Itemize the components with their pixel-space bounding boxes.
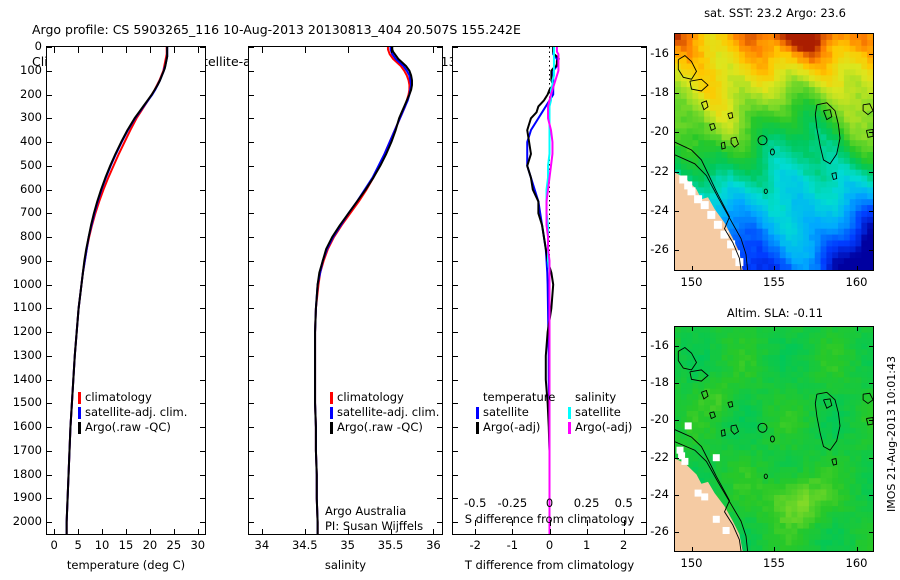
map-grid-cell: [762, 433, 768, 439]
map-grid-cell: [704, 445, 710, 451]
map-grid-cell: [774, 355, 780, 361]
map-grid-cell: [774, 344, 780, 350]
map-grid-cell: [844, 229, 850, 236]
x-tick-mark: [433, 47, 434, 53]
map-lat-tick-label: -22: [634, 164, 669, 178]
map-grid-cell: [727, 327, 733, 333]
map-grid-cell: [791, 187, 797, 194]
map-grid-cell: [803, 182, 809, 189]
map-grid-cell: [844, 199, 850, 206]
map-grid-cell: [803, 327, 809, 333]
map-grid-cell: [681, 170, 687, 177]
map-grid-cell: [751, 338, 757, 344]
depth-tick-mark: [452, 403, 458, 404]
map-grid-cell: [745, 193, 751, 200]
map-grid-cell: [809, 264, 815, 270]
map-grid-cell: [716, 394, 722, 400]
legend-label: climatology: [85, 390, 152, 405]
map-grid-cell: [867, 264, 873, 270]
map-grid-cell: [809, 428, 815, 434]
map-grid-cell: [809, 489, 815, 495]
map-grid-cell: [774, 146, 780, 153]
map-grid-cell: [716, 338, 722, 344]
map-grid-cell: [716, 146, 722, 153]
map-grid-cell: [844, 34, 850, 41]
map-grid-cell: [850, 428, 856, 434]
map-grid-cell: [856, 338, 862, 344]
map-grid-cell: [856, 170, 862, 177]
map-grid-cell: [780, 540, 786, 546]
difference-profile-panel[interactable]: [452, 46, 647, 535]
map-grid-cell: [826, 164, 832, 171]
map-grid-cell: [844, 40, 850, 47]
map-grid-cell: [716, 105, 722, 112]
map-grid-cell: [838, 111, 844, 118]
map-grid-cell: [844, 372, 850, 378]
map-grid-cell: [815, 87, 821, 94]
map-grid-cell: [791, 46, 797, 53]
map-grid-cell: [762, 523, 768, 529]
map-grid-cell: [739, 81, 745, 88]
map-grid-cell: [786, 439, 792, 445]
map-grid-cell: [815, 123, 821, 130]
depth-tick-mark: [641, 308, 647, 309]
map-grid-cell: [797, 433, 803, 439]
map-grid-cell: [797, 523, 803, 529]
map-grid-cell: [844, 258, 850, 265]
map-grid-cell: [768, 69, 774, 76]
map-grid-cell: [692, 333, 698, 339]
map-grid-cell: [786, 187, 792, 194]
map-grid-cell: [797, 241, 803, 248]
map-grid-cell: [687, 111, 693, 118]
map-grid-cell: [733, 152, 739, 159]
map-lat-tick-mark: [869, 383, 874, 384]
map-grid-cell: [867, 484, 873, 490]
map-grid-cell: [867, 355, 873, 361]
map-grid-cell: [751, 484, 757, 490]
map-grid-cell: [768, 93, 774, 100]
map-grid-cell: [791, 235, 797, 242]
map-grid-cell: [762, 417, 768, 423]
map-grid-cell: [780, 99, 786, 106]
map-grid-cell: [692, 40, 698, 47]
map-grid-cell: [856, 158, 862, 165]
map-grid-cell: [861, 75, 867, 82]
depth-tick-mark: [437, 380, 443, 381]
map-grid-cell: [698, 473, 704, 479]
depth-tick-mark: [46, 451, 52, 452]
map-grid-cell: [692, 140, 698, 147]
map-grid-cell: [675, 99, 681, 106]
map-grid-cell: [856, 223, 862, 230]
map-grid-cell: [844, 433, 850, 439]
map-grid-cell: [850, 361, 856, 367]
map-grid-cell: [780, 235, 786, 242]
depth-tick-mark: [452, 47, 458, 48]
map-grid-cell: [780, 361, 786, 367]
map-grid-cell: [803, 338, 809, 344]
map-grid-cell: [733, 46, 739, 53]
map-grid-cell: [780, 105, 786, 112]
map-grid-cell: [809, 506, 815, 512]
map-grid-cell: [698, 344, 704, 350]
map-grid-cell: [791, 377, 797, 383]
map-grid-cell: [727, 46, 733, 53]
map-grid-cell: [809, 235, 815, 242]
map-grid-cell: [809, 512, 815, 518]
difference-legend-salinity: salinitysatelliteArgo(-adj): [568, 390, 632, 435]
map-grid-cell: [751, 422, 757, 428]
map-grid-cell: [774, 229, 780, 236]
map-grid-cell: [856, 383, 862, 389]
map-no-data-cell: [701, 493, 708, 500]
map-grid-cell: [791, 199, 797, 206]
map-grid-cell: [821, 489, 827, 495]
profile-line: [315, 47, 412, 534]
map-grid-cell: [821, 223, 827, 230]
map-grid-cell: [757, 58, 763, 65]
map-grid-cell: [803, 152, 809, 159]
map-grid-cell: [733, 217, 739, 224]
map-grid-cell: [774, 540, 780, 546]
map-grid-cell: [838, 164, 844, 171]
map-grid-cell: [745, 400, 751, 406]
map-lat-tick-mark: [674, 211, 679, 212]
map-grid-cell: [850, 264, 856, 270]
map-grid-cell: [762, 199, 768, 206]
map-grid-cell: [757, 545, 763, 551]
map-grid-cell: [739, 372, 745, 378]
map-grid-cell: [774, 69, 780, 76]
map-grid-cell: [786, 170, 792, 177]
map-grid-cell: [861, 123, 867, 130]
map-grid-cell: [838, 241, 844, 248]
temperature-profile-panel[interactable]: [46, 46, 206, 535]
map-grid-cell: [850, 377, 856, 383]
map-lat-tick-mark: [869, 211, 874, 212]
depth-tick-mark: [437, 71, 443, 72]
map-grid-cell: [850, 383, 856, 389]
map-grid-cell: [762, 445, 768, 451]
map-grid-cell: [733, 355, 739, 361]
map-grid-cell: [733, 450, 739, 456]
depth-tick-mark: [46, 403, 52, 404]
map-grid-cell: [774, 377, 780, 383]
map-grid-cell: [832, 46, 838, 53]
map-grid-cell: [850, 355, 856, 361]
map-grid-cell: [739, 327, 745, 333]
map-grid-cell: [821, 187, 827, 194]
map-grid-cell: [809, 258, 815, 265]
map-grid-cell: [821, 484, 827, 490]
map-grid-cell: [780, 484, 786, 490]
map-grid-cell: [791, 152, 797, 159]
map-grid-cell: [704, 473, 710, 479]
map-grid-cell: [867, 193, 873, 200]
map-lat-tick-mark: [674, 346, 679, 347]
map-grid-cell: [791, 456, 797, 462]
map-grid-cell: [727, 349, 733, 355]
map-grid-cell: [733, 211, 739, 218]
depth-tick-label: 100: [0, 63, 42, 77]
map-grid-cell: [809, 81, 815, 88]
map-grid-cell: [832, 327, 838, 333]
map-grid-cell: [867, 467, 873, 473]
map-grid-cell: [757, 361, 763, 367]
map-grid-cell: [821, 75, 827, 82]
map-grid-cell: [809, 229, 815, 236]
depth-tick-label: 1400: [0, 372, 42, 386]
map-grid-cell: [757, 355, 763, 361]
map-grid-cell: [762, 117, 768, 124]
map-grid-cell: [821, 252, 827, 258]
map-grid-cell: [704, 64, 710, 71]
map-grid-cell: [739, 40, 745, 47]
map-grid-cell: [786, 489, 792, 495]
depth-tick-mark: [437, 47, 443, 48]
map-grid-cell: [681, 377, 687, 383]
map-grid-cell: [856, 134, 862, 141]
map-grid-cell: [786, 217, 792, 224]
map-lat-tick-mark: [674, 250, 679, 251]
map-grid-cell: [826, 506, 832, 512]
map-grid-cell: [850, 176, 856, 183]
map-grid-cell: [844, 484, 850, 490]
depth-tick-label: 800: [0, 229, 42, 243]
map-lon-tick-mark: [857, 266, 858, 271]
map-grid-cell: [809, 40, 815, 47]
map-grid-cell: [850, 327, 856, 333]
map-grid-cell: [751, 372, 757, 378]
map-grid-cell: [786, 383, 792, 389]
map-grid-cell: [797, 246, 803, 253]
map-grid-cell: [821, 545, 827, 551]
map-grid-cell: [844, 545, 850, 551]
depth-tick-mark: [437, 522, 443, 523]
map-grid-cell: [757, 81, 763, 88]
map-grid-cell: [838, 211, 844, 218]
legend-item: satellite: [476, 405, 555, 420]
map-grid-cell: [786, 417, 792, 423]
map-grid-cell: [739, 75, 745, 82]
map-grid-cell: [757, 523, 763, 529]
map-grid-cell: [821, 99, 827, 106]
map-grid-cell: [861, 40, 867, 47]
map-grid-cell: [786, 140, 792, 147]
depth-tick-mark: [452, 475, 458, 476]
map-grid-cell: [844, 506, 850, 512]
map-grid-cell: [698, 111, 704, 118]
map-grid-cell: [727, 81, 733, 88]
map-grid-cell: [838, 512, 844, 518]
map-grid-cell: [838, 64, 844, 71]
map-grid-cell: [745, 422, 751, 428]
sst-map[interactable]: [674, 33, 874, 271]
map-grid-cell: [774, 187, 780, 194]
map-grid-cell: [745, 478, 751, 484]
map-grid-cell: [797, 545, 803, 551]
depth-tick-mark: [248, 47, 254, 48]
map-grid-cell: [821, 523, 827, 529]
map-grid-cell: [762, 411, 768, 417]
map-grid-cell: [751, 170, 757, 177]
map-grid-cell: [698, 81, 704, 88]
map-grid-cell: [780, 146, 786, 153]
map-grid-cell: [815, 512, 821, 518]
salinity-profile-panel[interactable]: [248, 46, 443, 535]
map-grid-cell: [803, 501, 809, 507]
map-grid-cell: [733, 58, 739, 65]
map-grid-cell: [786, 422, 792, 428]
map-grid-cell: [850, 344, 856, 350]
map-grid-cell: [774, 495, 780, 501]
map-grid-cell: [867, 187, 873, 194]
map-grid-cell: [832, 93, 838, 100]
map-grid-cell: [803, 58, 809, 65]
map-grid-cell: [850, 64, 856, 71]
map-grid-cell: [861, 355, 867, 361]
map-grid-cell: [821, 246, 827, 253]
map-grid-cell: [844, 400, 850, 406]
depth-tick-mark: [437, 118, 443, 119]
map-grid-cell: [774, 422, 780, 428]
map-grid-cell: [786, 64, 792, 71]
map-grid-cell: [692, 327, 698, 333]
map-grid-cell: [687, 338, 693, 344]
map-grid-cell: [844, 211, 850, 218]
map-grid-cell: [791, 473, 797, 479]
map-grid-cell: [850, 170, 856, 177]
map-grid-cell: [856, 241, 862, 248]
map-grid-cell: [733, 105, 739, 112]
x-tick-mark: [150, 47, 151, 53]
depth-tick-mark: [452, 118, 458, 119]
map-grid-cell: [821, 540, 827, 546]
map-grid-cell: [803, 34, 809, 41]
x-tick-mark: [78, 47, 79, 53]
map-grid-cell: [745, 105, 751, 112]
map-grid-cell: [844, 105, 850, 112]
map-grid-cell: [739, 450, 745, 456]
map-grid-cell: [716, 58, 722, 65]
map-grid-cell: [774, 400, 780, 406]
map-grid-cell: [832, 128, 838, 135]
map-grid-cell: [832, 355, 838, 361]
map-grid-cell: [780, 428, 786, 434]
map-grid-cell: [861, 394, 867, 400]
map-lat-tick-mark: [674, 420, 679, 421]
depth-tick-mark: [248, 451, 254, 452]
map-grid-cell: [751, 333, 757, 339]
map-grid-cell: [698, 64, 704, 71]
map-grid-cell: [751, 529, 757, 535]
map-grid-cell: [861, 217, 867, 224]
map-grid-cell: [826, 501, 832, 507]
map-grid-cell: [710, 117, 716, 124]
map-grid-cell: [791, 529, 797, 535]
map-grid-cell: [791, 40, 797, 47]
map-grid-cell: [786, 99, 792, 106]
map-grid-cell: [786, 355, 792, 361]
map-grid-cell: [809, 176, 815, 183]
map-grid-cell: [838, 187, 844, 194]
depth-tick-mark: [641, 285, 647, 286]
map-grid-cell: [774, 489, 780, 495]
map-grid-cell: [786, 246, 792, 253]
map-grid-cell: [780, 123, 786, 130]
map-grid-cell: [780, 223, 786, 230]
map-grid-cell: [745, 52, 751, 59]
map-grid-cell: [791, 405, 797, 411]
map-grid-cell: [739, 64, 745, 71]
map-grid-cell: [757, 111, 763, 118]
map-grid-cell: [867, 361, 873, 367]
map-grid-cell: [675, 389, 681, 395]
map-grid-cell: [815, 361, 821, 367]
map-grid-cell: [786, 461, 792, 467]
map-grid-cell: [786, 40, 792, 47]
map-grid-cell: [797, 252, 803, 258]
map-grid-cell: [838, 467, 844, 473]
legend-label: climatology: [337, 390, 404, 405]
map-grid-cell: [739, 205, 745, 212]
map-grid-cell: [739, 478, 745, 484]
map-grid-cell: [838, 540, 844, 546]
map-grid-cell: [803, 87, 809, 94]
map-grid-cell: [832, 478, 838, 484]
map-grid-cell: [803, 411, 809, 417]
map-grid-cell: [850, 473, 856, 479]
map-grid-cell: [745, 69, 751, 76]
map-grid-cell: [780, 383, 786, 389]
map-grid-cell: [861, 450, 867, 456]
map-grid-cell: [733, 117, 739, 124]
map-grid-cell: [727, 193, 733, 200]
map-grid-cell: [850, 349, 856, 355]
map-grid-cell: [722, 40, 728, 47]
map-grid-cell: [704, 400, 710, 406]
map-grid-cell: [856, 517, 862, 523]
map-grid-cell: [809, 344, 815, 350]
depth-tick-mark: [248, 498, 254, 499]
sla-map[interactable]: [674, 326, 874, 552]
map-grid-cell: [675, 400, 681, 406]
map-grid-cell: [856, 456, 862, 462]
map-grid-cell: [780, 229, 786, 236]
depth-tick-mark: [200, 356, 206, 357]
map-lat-tick-label: -16: [634, 46, 669, 60]
map-grid-cell: [861, 473, 867, 479]
map-grid-cell: [780, 241, 786, 248]
map-grid-cell: [844, 405, 850, 411]
map-grid-cell: [768, 411, 774, 417]
map-grid-cell: [856, 187, 862, 194]
map-grid-cell: [844, 128, 850, 135]
map-grid-cell: [751, 540, 757, 546]
x-tick-mark: [262, 529, 263, 535]
map-grid-cell: [751, 117, 757, 124]
x-tick-mark: [54, 47, 55, 53]
map-grid-cell: [751, 105, 757, 112]
depth-tick-mark: [200, 475, 206, 476]
map-grid-cell: [815, 205, 821, 212]
map-grid-cell: [809, 433, 815, 439]
map-grid-cell: [762, 134, 768, 141]
map-grid-cell: [809, 473, 815, 479]
map-grid-cell: [687, 450, 693, 456]
map-lat-tick-label: -16: [634, 338, 669, 352]
